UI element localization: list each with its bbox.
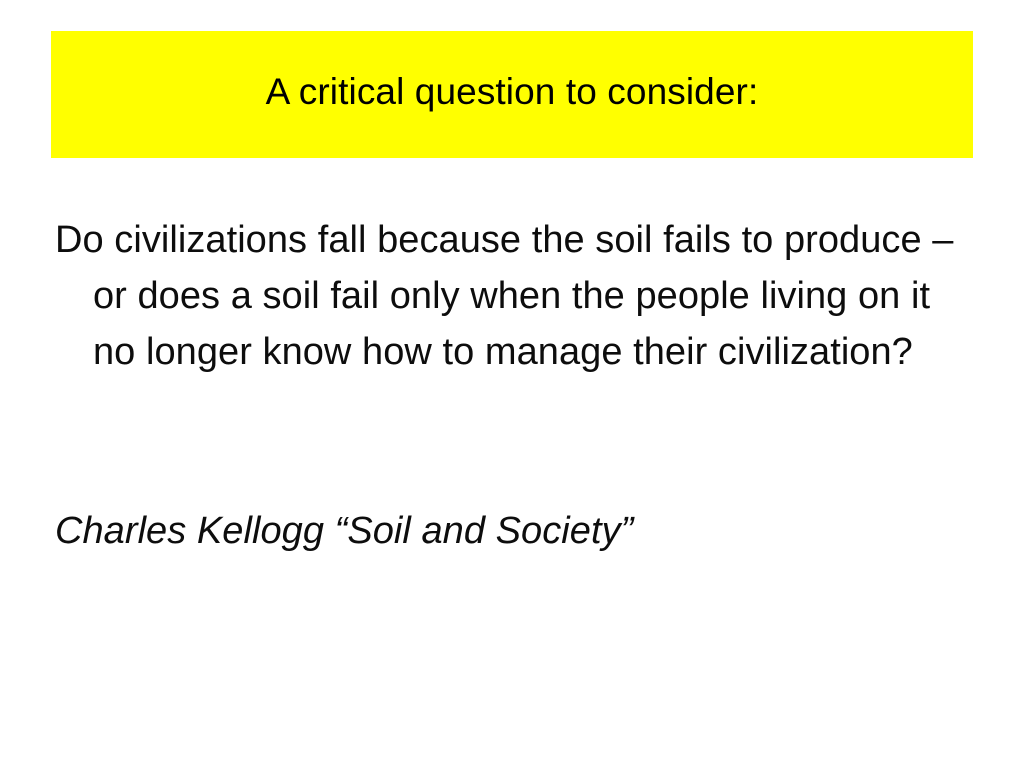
body-paragraph: Do civilizations fall because the soil f…	[55, 212, 955, 380]
attribution-block: Charles Kellogg “Soil and Society”	[55, 503, 955, 559]
attribution-citation: Charles Kellogg “Soil and Society”	[55, 503, 955, 559]
body-text-block: Do civilizations fall because the soil f…	[55, 212, 955, 380]
title-banner: A critical question to consider:	[51, 31, 973, 158]
slide-canvas: A critical question to consider: Do civi…	[0, 0, 1024, 768]
slide-title: A critical question to consider:	[266, 71, 759, 118]
